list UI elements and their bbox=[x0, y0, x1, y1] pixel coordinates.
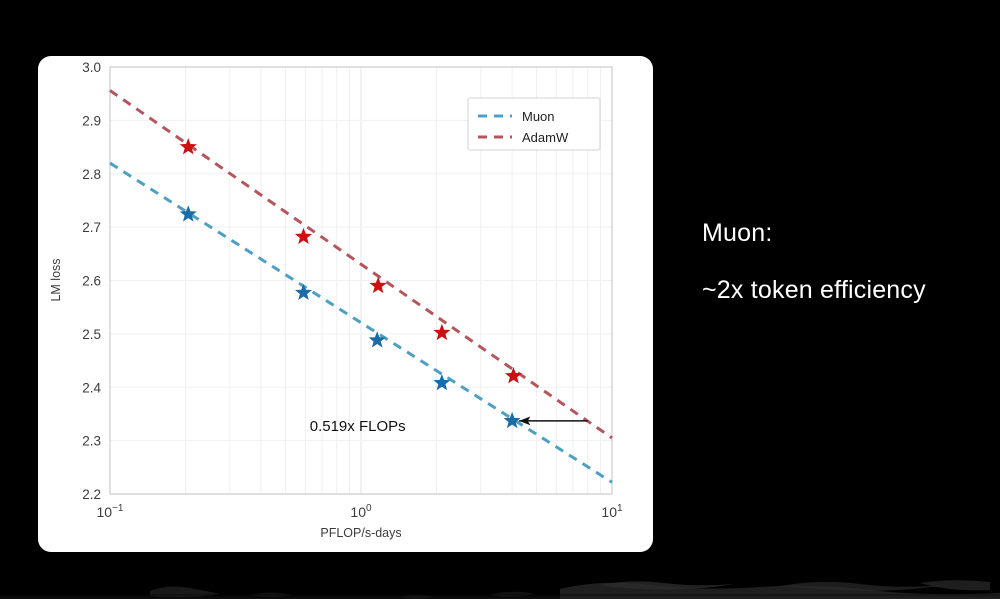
y-tick-2.4: 2.4 bbox=[82, 380, 101, 395]
scaling-law-chart: 0.519x FLOPs 2.22.32.42.52.62.72.82.93.0… bbox=[38, 56, 653, 552]
svg-text:10−1: 10−1 bbox=[97, 503, 124, 520]
flops-annotation-label: 0.519x FLOPs bbox=[310, 418, 406, 435]
x-tick-0: 10−1 bbox=[97, 503, 124, 520]
y-axis-tick-labels: 2.22.32.42.52.62.72.82.93.0 bbox=[82, 60, 101, 502]
x-tick-1: 100 bbox=[350, 503, 372, 520]
legend-label-muon: Muon bbox=[522, 109, 555, 124]
chart-legend[interactable]: MuonAdamW bbox=[468, 98, 600, 150]
x-axis-tick-labels: 10−1100101 bbox=[97, 503, 624, 520]
y-tick-2.5: 2.5 bbox=[82, 327, 101, 342]
svg-text:101: 101 bbox=[601, 503, 623, 520]
caption-line-muon: Muon: bbox=[702, 218, 982, 249]
y-tick-2.8: 2.8 bbox=[82, 167, 101, 182]
y-tick-2.6: 2.6 bbox=[82, 274, 101, 289]
x-axis-title: PFLOP/s-days bbox=[320, 526, 401, 540]
caption-line-token-efficiency: ~2x token efficiency bbox=[702, 275, 982, 306]
slide-canvas: 0.519x FLOPs 2.22.32.42.52.62.72.82.93.0… bbox=[0, 0, 1000, 599]
y-tick-3.0: 3.0 bbox=[82, 60, 101, 75]
x-tick-2: 101 bbox=[601, 503, 623, 520]
y-tick-2.7: 2.7 bbox=[82, 220, 101, 235]
y-axis-title: LM loss bbox=[49, 258, 63, 301]
y-tick-2.3: 2.3 bbox=[82, 434, 101, 449]
chart-card: 0.519x FLOPs 2.22.32.42.52.62.72.82.93.0… bbox=[38, 56, 653, 552]
legend-label-adamw: AdamW bbox=[522, 130, 569, 145]
caption-block: Muon: ~2x token efficiency bbox=[702, 218, 982, 305]
y-tick-2.2: 2.2 bbox=[82, 487, 101, 502]
svg-text:100: 100 bbox=[350, 503, 372, 520]
bottom-texture bbox=[0, 555, 1000, 599]
y-tick-2.9: 2.9 bbox=[82, 113, 101, 128]
